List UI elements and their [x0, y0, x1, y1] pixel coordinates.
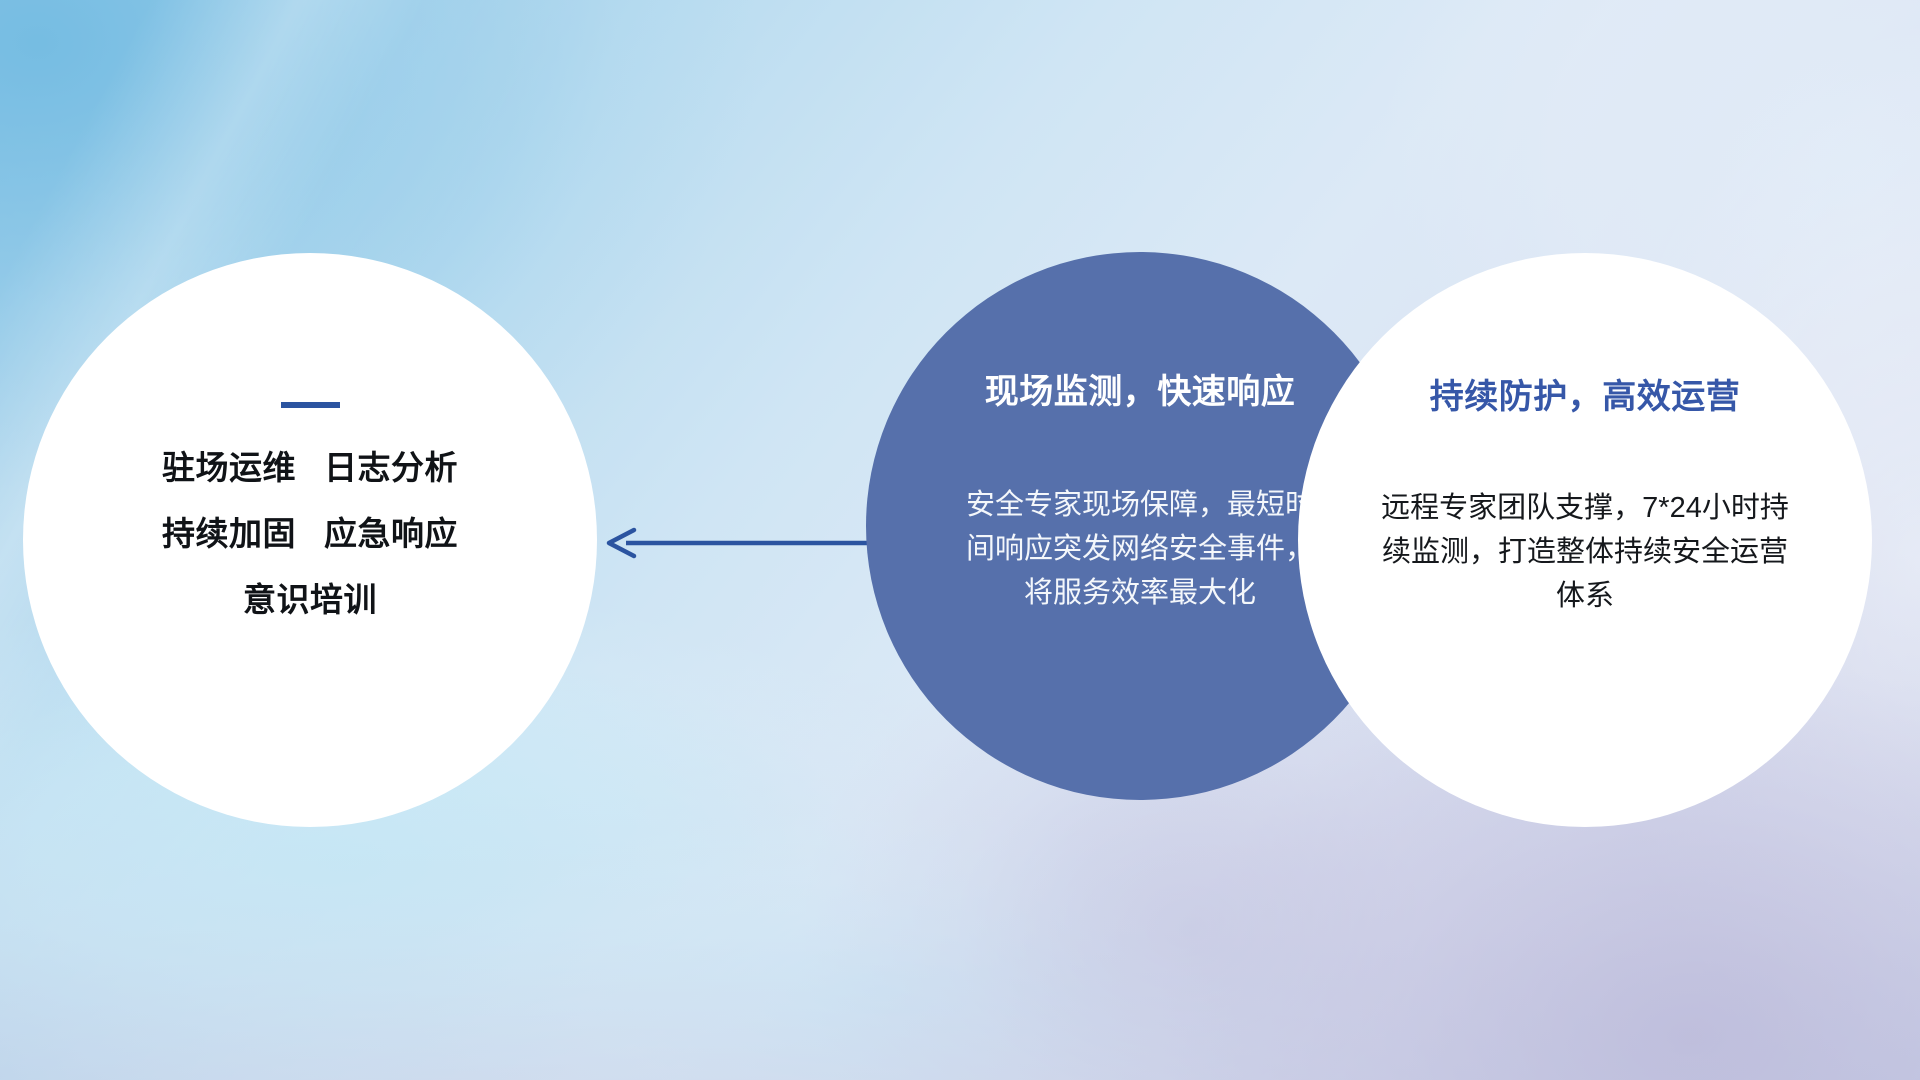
- list-item: 驻场运维日志分析: [162, 451, 458, 484]
- left-arrow-icon: [609, 530, 886, 556]
- horizontal-dash-divider-icon: [281, 402, 340, 408]
- service-capability-list: 驻场运维日志分析 持续加固应急响应 意识培训: [162, 451, 458, 616]
- continuous-protection-circle: 持续防护，高效运营 远程专家团队支撑，7*24小时持续监测，打造整体持续安全运营…: [1298, 253, 1872, 827]
- list-item: 持续加固应急响应: [162, 517, 458, 550]
- list-item: 意识培训: [162, 583, 458, 616]
- capability-label: 日志分析: [324, 449, 458, 486]
- capability-label: 意识培训: [243, 581, 377, 618]
- capability-label: 持续加固: [162, 515, 296, 552]
- connector-arrow: [600, 520, 890, 566]
- continuous-protection-description: 远程专家团队支撑，7*24小时持续监测，打造整体持续安全运营体系: [1369, 486, 1801, 618]
- capability-label: 驻场运维: [162, 449, 296, 486]
- continuous-protection-title: 持续防护，高效运营: [1430, 369, 1741, 418]
- service-capabilities-circle: 驻场运维日志分析 持续加固应急响应 意识培训: [23, 253, 597, 827]
- capability-label: 应急响应: [324, 515, 458, 552]
- onsite-monitoring-description: 安全专家现场保障，最短时间响应突发网络安全事件，将服务效率最大化: [957, 483, 1323, 615]
- slide-canvas: 驻场运维日志分析 持续加固应急响应 意识培训 现场监测，快速响应 安全专家现场保…: [0, 0, 1920, 1080]
- onsite-monitoring-title: 现场监测，快速响应: [985, 364, 1296, 413]
